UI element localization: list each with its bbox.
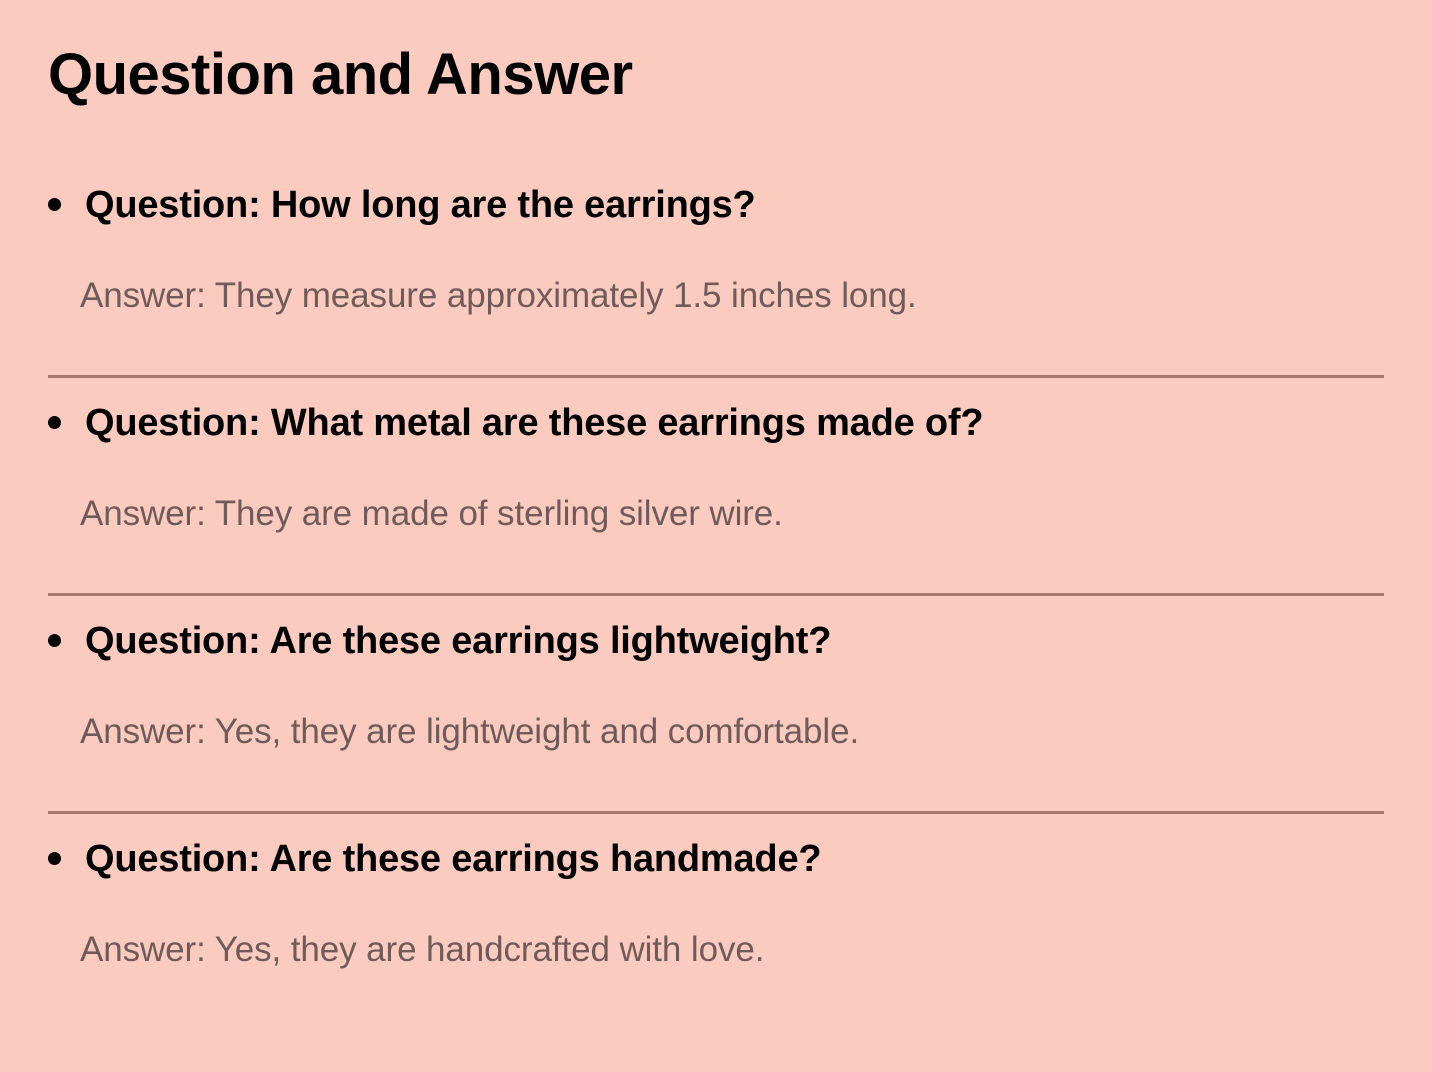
qa-item: Question: What metal are these earrings … xyxy=(0,378,1432,596)
qa-list: Question: How long are the earrings? Ans… xyxy=(0,160,1432,1032)
question-row: Question: Are these earrings lightweight… xyxy=(48,596,1384,664)
qa-item: Question: Are these earrings handmade? A… xyxy=(0,814,1432,1032)
question-row: Question: Are these earrings handmade? xyxy=(48,814,1384,882)
question-text: Question: Are these earrings handmade? xyxy=(85,836,1384,882)
question-text: Question: Are these earrings lightweight… xyxy=(85,618,1384,664)
qa-item: Question: Are these earrings lightweight… xyxy=(0,596,1432,814)
answer-text: Answer: Yes, they are lightweight and co… xyxy=(48,664,1384,753)
answer-text: Answer: They measure approximately 1.5 i… xyxy=(48,228,1384,317)
answer-text: Answer: Yes, they are handcrafted with l… xyxy=(48,882,1384,971)
question-text: Question: How long are the earrings? xyxy=(85,182,1384,228)
question-row: Question: What metal are these earrings … xyxy=(48,378,1384,446)
qa-page: Question and Answer Question: How long a… xyxy=(0,0,1432,1072)
question-text: Question: What metal are these earrings … xyxy=(85,400,1384,446)
page-title: Question and Answer xyxy=(48,40,633,110)
qa-item: Question: How long are the earrings? Ans… xyxy=(0,160,1432,378)
answer-text: Answer: They are made of sterling silver… xyxy=(48,446,1384,535)
bullet-icon xyxy=(48,852,61,865)
bullet-icon xyxy=(48,634,61,647)
bullet-icon xyxy=(48,416,61,429)
bullet-icon xyxy=(48,198,61,211)
question-row: Question: How long are the earrings? xyxy=(48,160,1384,228)
